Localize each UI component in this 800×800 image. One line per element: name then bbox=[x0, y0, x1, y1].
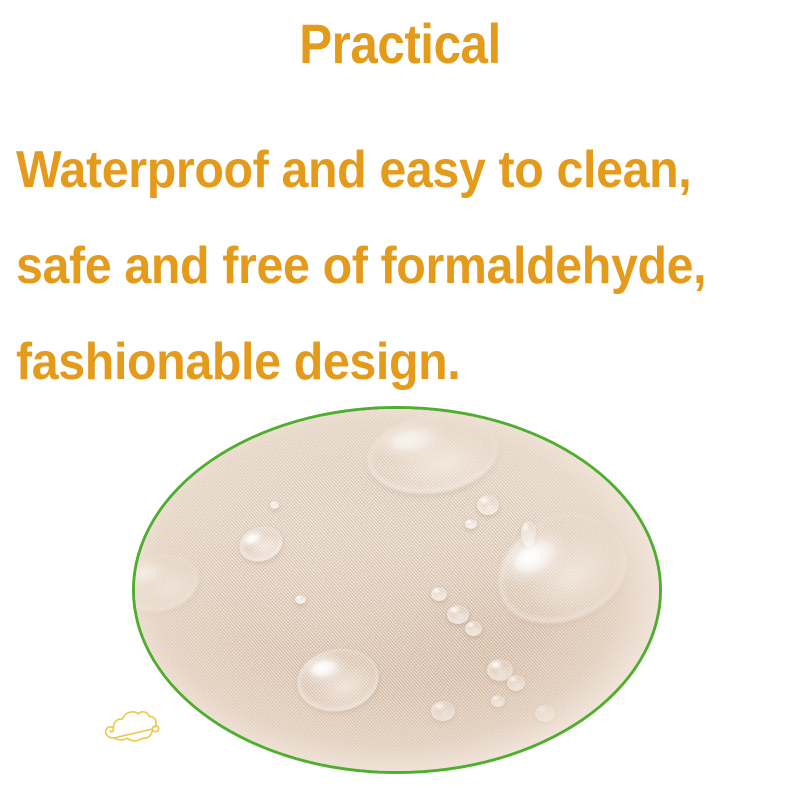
feature-description: Waterproof and easy to clean, safe and f… bbox=[16, 122, 800, 410]
photo-edge-blur bbox=[133, 407, 661, 773]
cloud-icon bbox=[100, 700, 162, 750]
feature-description-line-1: Waterproof and easy to clean, bbox=[16, 122, 745, 218]
product-feature-banner: Practical Waterproof and easy to clean, … bbox=[0, 0, 800, 800]
photo-oval-frame bbox=[132, 406, 662, 774]
cloud-logo bbox=[100, 700, 162, 750]
feature-description-line-3: fashionable design. bbox=[16, 314, 745, 410]
feature-description-line-2: safe and free of formaldehyde, bbox=[16, 218, 745, 314]
page-title: Practical bbox=[48, 14, 752, 74]
product-photo bbox=[132, 406, 662, 774]
